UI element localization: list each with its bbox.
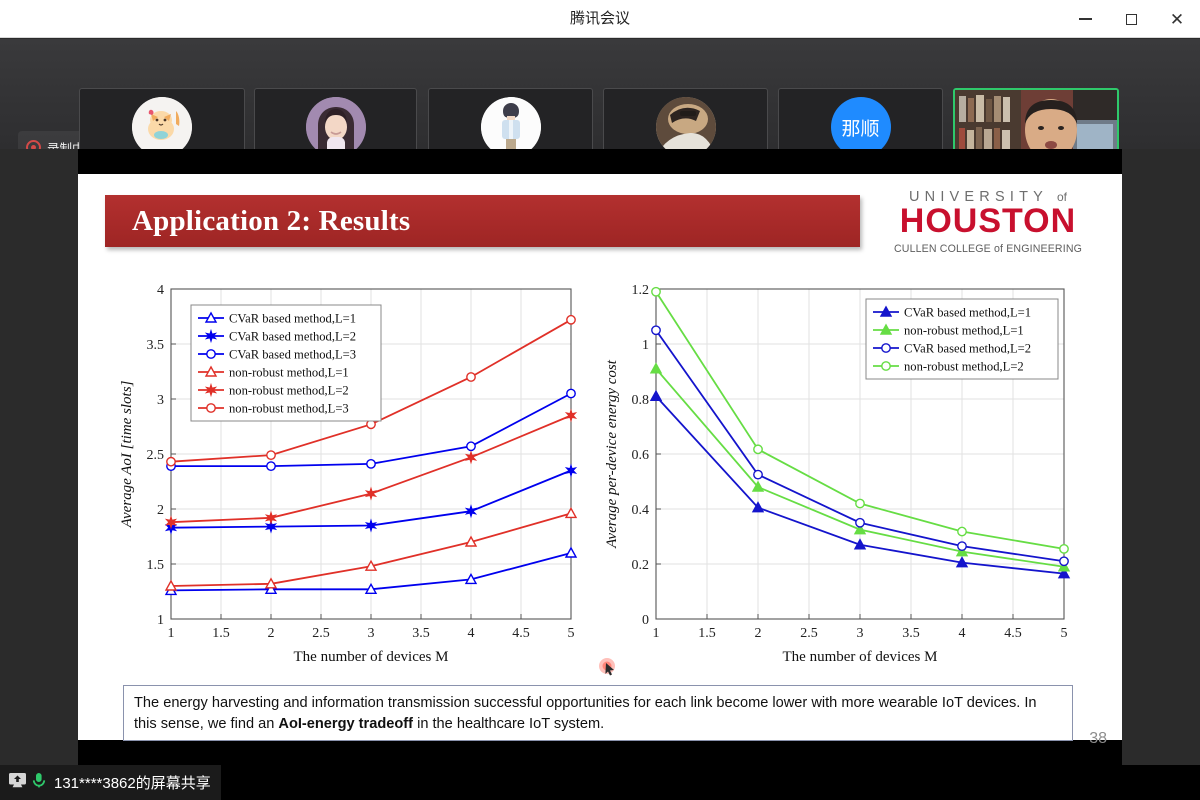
svg-text:0.4: 0.4 [632,503,650,518]
svg-text:1: 1 [653,626,660,641]
annotation-cursor [598,657,620,679]
svg-text:2.5: 2.5 [312,626,330,641]
logo-line-college: CULLEN COLLEGE of ENGINEERING [872,243,1104,255]
svg-text:1.2: 1.2 [632,283,650,298]
university-logo: UNIVERSITY of HOUSTON CULLEN COLLEGE of … [872,189,1104,255]
slide-page-number: 38 [1089,730,1107,748]
avatar [306,97,366,157]
svg-text:4.5: 4.5 [1004,626,1022,641]
avatar-initials: 那顺 [831,97,891,157]
screen-share-status: 131****3862的屏幕共享 [0,765,221,800]
page-title: 腾讯会议 [0,0,1200,38]
close-button[interactable]: ✕ [1154,0,1200,38]
svg-text:0.8: 0.8 [632,393,650,408]
svg-text:5: 5 [568,626,575,641]
minimize-button[interactable] [1062,0,1108,38]
svg-text:0: 0 [642,613,649,628]
slide-title-banner: Application 2: Results [105,195,860,247]
svg-text:1: 1 [157,613,164,628]
svg-text:2: 2 [157,503,164,518]
svg-text:2.5: 2.5 [800,626,818,641]
shared-screen-area: Application 2: Results UNIVERSITY of HOU… [0,149,1200,765]
takeaway-bold: AoI-energy tradeoff [278,716,413,732]
takeaway-textbox: The energy harvesting and information tr… [123,685,1073,741]
svg-text:4: 4 [468,626,475,641]
svg-text:non-robust method,L=1: non-robust method,L=1 [904,324,1024,338]
svg-text:non-robust method,L=2: non-robust method,L=2 [904,360,1024,374]
svg-text:4: 4 [959,626,966,641]
share-status-text: 131****3862的屏幕共享 [54,772,211,793]
chart-right-energy: 11.522.533.544.5500.20.40.60.811.2The nu… [598,277,1088,672]
svg-text:non-robust method,L=3: non-robust method,L=3 [229,402,349,416]
maximize-icon [1126,14,1137,25]
svg-text:The number of devices M: The number of devices M [294,649,449,665]
svg-text:3.5: 3.5 [902,626,920,641]
screen-share-icon [8,771,27,794]
takeaway-text: The energy harvesting and information tr… [134,693,1062,735]
window-controls: ✕ [1062,0,1200,38]
svg-text:1.5: 1.5 [698,626,716,641]
svg-text:3: 3 [157,393,164,408]
svg-text:0.2: 0.2 [632,558,650,573]
svg-text:CVaR based method,L=3: CVaR based method,L=3 [229,348,356,362]
close-icon: ✕ [1170,11,1184,28]
svg-text:3.5: 3.5 [147,338,165,353]
slide-title: Application 2: Results [105,205,410,238]
svg-text:CVaR based method,L=2: CVaR based method,L=2 [904,342,1031,356]
svg-text:non-robust method,L=1: non-robust method,L=1 [229,366,349,380]
svg-text:1.5: 1.5 [147,558,165,573]
svg-text:4: 4 [157,283,164,298]
svg-text:CVaR based method,L=1: CVaR based method,L=1 [904,306,1031,320]
svg-text:CVaR based method,L=1: CVaR based method,L=1 [229,312,356,326]
svg-text:0.6: 0.6 [632,448,650,463]
participant-strip: 录制中 孙日娜Rita [0,39,1200,149]
avatar [132,97,192,157]
svg-text:The number of devices M: The number of devices M [783,649,938,665]
svg-text:3.5: 3.5 [412,626,430,641]
svg-text:3: 3 [368,626,375,641]
svg-text:3: 3 [857,626,864,641]
minimize-icon [1079,18,1092,20]
takeaway-part-2: in the healthcare IoT system. [413,716,604,732]
maximize-button[interactable] [1108,0,1154,38]
svg-text:5: 5 [1061,626,1068,641]
svg-text:1: 1 [642,338,649,353]
logo-line-houston: HOUSTON [872,204,1104,240]
svg-text:4.5: 4.5 [512,626,530,641]
svg-text:CVaR based method,L=2: CVaR based method,L=2 [229,330,356,344]
chart-left-aoi: 11.522.533.544.5511.522.533.54The number… [113,277,593,672]
svg-text:Average per-device energy cost: Average per-device energy cost [604,359,620,549]
avatar [656,97,716,157]
bottom-status-bar: 131****3862的屏幕共享 [0,765,1200,800]
presentation-slide: Application 2: Results UNIVERSITY of HOU… [78,174,1122,740]
svg-text:1: 1 [168,626,175,641]
svg-text:Average AoI [time slots]: Average AoI [time slots] [119,380,135,528]
svg-text:2.5: 2.5 [147,448,165,463]
svg-text:1.5: 1.5 [212,626,230,641]
svg-text:2: 2 [268,626,275,641]
microphone-icon [31,771,47,794]
window-title-bar: 腾讯会议 ✕ [0,0,1200,38]
avatar [481,97,541,157]
svg-text:non-robust method,L=2: non-robust method,L=2 [229,384,349,398]
svg-text:2: 2 [755,626,762,641]
